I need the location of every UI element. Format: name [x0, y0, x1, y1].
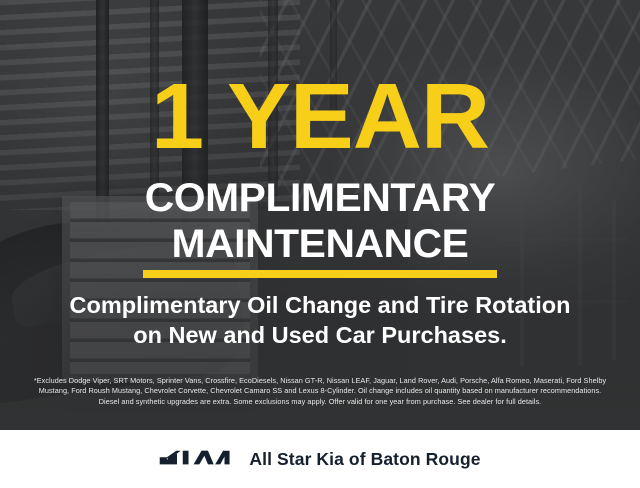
disclaimer-line-1: *Excludes Dodge Viper, SRT Motors, Sprin…	[16, 376, 624, 386]
dealer-footer: All Star Kia of Baton Rouge	[0, 430, 640, 488]
offer-tagline-line1: Complimentary Oil Change and Tire Rotati…	[0, 292, 640, 319]
offer-subhead-line2: MAINTENANCE	[0, 222, 640, 267]
dealer-name: All Star Kia of Baton Rouge	[249, 449, 480, 470]
offer-content: 1 YEAR COMPLIMENTARY MAINTENANCE Complim…	[0, 0, 640, 488]
offer-subhead-line1: COMPLIMENTARY	[0, 176, 640, 221]
yellow-divider-rule	[143, 270, 497, 278]
kia-logo-icon	[159, 448, 231, 470]
disclaimer-line-2: Mustang, Ford Roush Mustang, Chevrolet C…	[16, 386, 624, 396]
offer-headline: 1 YEAR	[0, 72, 640, 161]
disclaimer-text: *Excludes Dodge Viper, SRT Motors, Sprin…	[16, 376, 624, 407]
disclaimer-line-3: Diesel and synthetic upgrades are extra.…	[16, 397, 624, 407]
promotional-banner: 1 YEAR COMPLIMENTARY MAINTENANCE Complim…	[0, 0, 640, 488]
offer-tagline-line2: on New and Used Car Purchases.	[0, 322, 640, 349]
